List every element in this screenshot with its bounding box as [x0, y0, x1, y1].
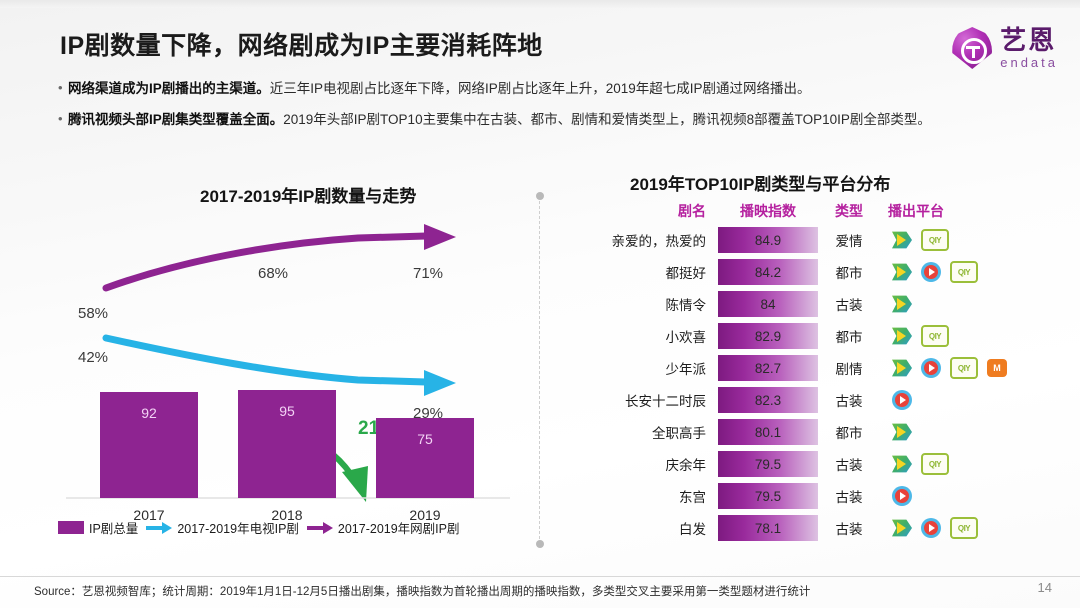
legend-label-web: 2017-2019年网剧IP剧 [338, 518, 460, 537]
cell-platforms [880, 294, 1036, 314]
cell-drama-name: 少年派 [596, 358, 718, 378]
slide: IP剧数量下降，网络剧成为IP主要消耗阵地 艺恩 endata • 网络渠道成为… [0, 0, 1080, 608]
ip-drama-chart: 58% 68% 71% 42% 32% 29% 21% 92 95 75 201… [58, 210, 518, 540]
table-row[interactable]: 白发78.1古装QIY [596, 512, 1036, 544]
tv-drama-line [106, 338, 426, 382]
iqiyi-icon[interactable]: QIY [950, 357, 978, 379]
cell-score-bar: 79.5 [718, 451, 818, 477]
tencent-video-icon[interactable] [892, 262, 912, 282]
cell-score-bar: 84.2 [718, 259, 818, 285]
tencent-video-icon[interactable] [892, 294, 912, 314]
divider-dot-bottom [536, 540, 544, 548]
cell-score-value: 82.3 [755, 393, 781, 408]
legend-arrow-blue-icon [146, 522, 172, 534]
cell-score-value: 82.9 [755, 329, 781, 344]
cell-score-bar: 78.1 [718, 515, 818, 541]
iqiyi-icon[interactable]: QIY [921, 325, 949, 347]
left-chart-title: 2017-2019年IP剧数量与走势 [200, 182, 416, 207]
cell-drama-name: 都挺好 [596, 262, 718, 282]
cell-genre: 都市 [818, 422, 880, 442]
youku-icon[interactable] [921, 262, 941, 282]
table-row[interactable]: 东宫79.5古装 [596, 480, 1036, 512]
bullet-lead-0: 网络渠道成为IP剧播出的主渠道。 [68, 81, 270, 96]
decline-arrowhead [342, 466, 368, 502]
table-row[interactable]: 少年派82.7剧情QIYM [596, 352, 1036, 384]
cell-score-bar: 82.9 [718, 323, 818, 349]
table-row[interactable]: 亲爱的，热爱的84.9爱情QIY [596, 224, 1036, 256]
cell-genre: 都市 [818, 262, 880, 282]
iqiyi-icon[interactable]: QIY [921, 229, 949, 251]
cell-score-value: 84.2 [755, 265, 781, 280]
cell-genre: 古装 [818, 518, 880, 538]
table-row[interactable]: 全职高手80.1都市 [596, 416, 1036, 448]
bar-value-2019: 75 [417, 431, 433, 447]
cell-genre: 古装 [818, 454, 880, 474]
cell-score-value: 80.1 [755, 425, 781, 440]
bullet-lead-1: 腾讯视频头部IP剧集类型覆盖全面。 [68, 112, 283, 127]
cell-drama-name: 陈情令 [596, 294, 718, 314]
cell-score-bar: 84 [718, 291, 818, 317]
tencent-video-icon[interactable] [892, 326, 912, 346]
logo-cn-text: 艺恩 [1000, 27, 1058, 53]
cell-genre: 都市 [818, 326, 880, 346]
tencent-video-icon[interactable] [892, 230, 912, 250]
tv-drama-arrowhead [424, 370, 456, 396]
bullet-marker: • [58, 109, 68, 129]
bar-value-2017: 92 [141, 405, 157, 421]
column-header-platform: 播出平台 [880, 201, 1036, 221]
panel-divider [539, 196, 540, 544]
cell-score-bar: 80.1 [718, 419, 818, 445]
cell-drama-name: 白发 [596, 518, 718, 538]
top10-table: 剧名 播映指数 类型 播出平台 亲爱的，热爱的84.9爱情QIY都挺好84.2都… [596, 198, 1036, 544]
cell-drama-name: 庆余年 [596, 454, 718, 474]
legend-swatch-icon [58, 521, 84, 534]
bar-value-2018: 95 [279, 403, 295, 419]
cell-platforms: QIY [880, 229, 1036, 251]
label-web-2017: 58% [78, 305, 108, 322]
cell-platforms: QIY [880, 325, 1036, 347]
cell-platforms [880, 486, 1036, 506]
cell-platforms: QIY [880, 453, 1036, 475]
divider-dot-top [536, 192, 544, 200]
table-row[interactable]: 陈情令84古装 [596, 288, 1036, 320]
cell-drama-name: 长安十二时辰 [596, 390, 718, 410]
iqiyi-icon[interactable]: QIY [950, 261, 978, 283]
cell-drama-name: 亲爱的，热爱的 [596, 230, 718, 250]
right-table-title: 2019年TOP10IP剧类型与平台分布 [630, 170, 890, 195]
cell-drama-name: 东宫 [596, 486, 718, 506]
cell-score-value: 84.9 [755, 233, 781, 248]
tencent-video-icon[interactable] [892, 518, 912, 538]
cell-platforms: QIY [880, 517, 1036, 539]
cell-genre: 爱情 [818, 230, 880, 250]
mango-tv-icon[interactable]: M [987, 359, 1007, 377]
logo-en-text: endata [1000, 56, 1058, 69]
cell-drama-name: 小欢喜 [596, 326, 718, 346]
column-header-score: 播映指数 [718, 198, 818, 224]
legend-item-tv: 2017-2019年电视IP剧 [146, 518, 299, 537]
legend-item-total: IP剧总量 [58, 518, 138, 537]
youku-icon[interactable] [921, 358, 941, 378]
table-row[interactable]: 庆余年79.5古装QIY [596, 448, 1036, 480]
column-header-name: 剧名 [596, 201, 718, 221]
page-title: IP剧数量下降，网络剧成为IP主要消耗阵地 [60, 26, 700, 62]
table-row[interactable]: 小欢喜82.9都市QIY [596, 320, 1036, 352]
cell-score-value: 84 [760, 297, 775, 312]
bullet-body-1: 2019年头部IP剧TOP10主要集中在古装、都市、剧情和爱情类型上，腾讯视频8… [283, 112, 931, 127]
table-row[interactable]: 长安十二时辰82.3古装 [596, 384, 1036, 416]
cell-platforms: QIY [880, 261, 1036, 283]
tencent-video-icon[interactable] [892, 454, 912, 474]
youku-icon[interactable] [892, 390, 912, 410]
youku-icon[interactable] [892, 486, 912, 506]
tencent-video-icon[interactable] [892, 422, 912, 442]
list-item: • 腾讯视频头部IP剧集类型覆盖全面。2019年头部IP剧TOP10主要集中在古… [58, 109, 1048, 130]
bullet-list: • 网络渠道成为IP剧播出的主渠道。近三年IP电视剧占比逐年下降，网络IP剧占比… [58, 78, 1048, 140]
endata-logo-icon [952, 27, 992, 69]
legend-arrow-purple-icon [307, 522, 333, 534]
legend-label-tv: 2017-2019年电视IP剧 [177, 518, 299, 537]
cell-score-value: 79.5 [755, 457, 781, 472]
cell-score-bar: 84.9 [718, 227, 818, 253]
youku-icon[interactable] [921, 518, 941, 538]
legend-label-total: IP剧总量 [89, 518, 138, 537]
label-tv-2017: 42% [78, 349, 108, 366]
cell-score-value: 82.7 [755, 361, 781, 376]
cell-genre: 古装 [818, 294, 880, 314]
label-web-2019: 71% [413, 265, 443, 282]
web-drama-arrowhead [424, 224, 456, 250]
cell-platforms: QIYM [880, 357, 1036, 379]
tencent-video-icon[interactable] [892, 358, 912, 378]
table-header-row: 剧名 播映指数 类型 播出平台 [596, 198, 1036, 224]
cell-score-value: 79.5 [755, 489, 781, 504]
cell-score-bar: 82.3 [718, 387, 818, 413]
bullet-body-0: 近三年IP电视剧占比逐年下降，网络IP剧占比逐年上升，2019年超七成IP剧通过… [270, 81, 811, 96]
bar-2019 [376, 418, 474, 498]
footer-divider [0, 576, 1080, 577]
list-item: • 网络渠道成为IP剧播出的主渠道。近三年IP电视剧占比逐年下降，网络IP剧占比… [58, 78, 1048, 99]
cell-score-value: 78.1 [755, 521, 781, 536]
label-web-2018: 68% [258, 265, 288, 282]
cell-genre: 古装 [818, 390, 880, 410]
cell-score-bar: 82.7 [718, 355, 818, 381]
iqiyi-icon[interactable]: QIY [921, 453, 949, 475]
cell-drama-name: 全职高手 [596, 422, 718, 442]
source-note: Source：艺恩视频智库；统计周期：2019年1月1日-12月5日播出剧集，播… [34, 583, 810, 599]
cell-platforms [880, 422, 1036, 442]
legend-item-web: 2017-2019年网剧IP剧 [307, 518, 460, 537]
iqiyi-icon[interactable]: QIY [950, 517, 978, 539]
cell-genre: 古装 [818, 486, 880, 506]
page-number: 14 [1038, 580, 1052, 595]
chart-legend: IP剧总量 2017-2019年电视IP剧 2017-2019年网剧IP剧 [58, 518, 518, 537]
column-header-type: 类型 [818, 201, 880, 221]
cell-score-bar: 79.5 [718, 483, 818, 509]
bullet-marker: • [58, 78, 68, 98]
top-band [0, 0, 1080, 8]
table-row[interactable]: 都挺好84.2都市QIY [596, 256, 1036, 288]
brand-logo: 艺恩 endata [952, 26, 1058, 70]
cell-genre: 剧情 [818, 358, 880, 378]
cell-platforms [880, 390, 1036, 410]
